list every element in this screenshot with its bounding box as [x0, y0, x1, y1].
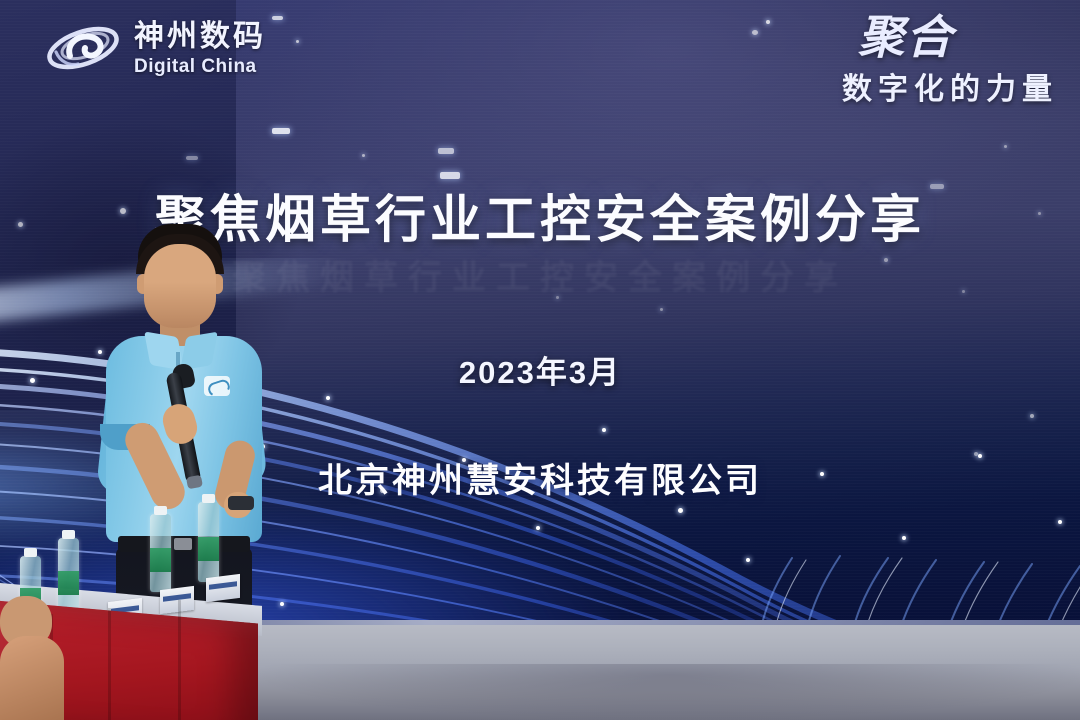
digital-china-logo: 神州数码 Digital China — [44, 18, 266, 80]
bottle-label — [198, 537, 219, 561]
bottle-label — [150, 548, 171, 572]
table-skirt-fold — [108, 608, 111, 720]
stage-floor-shadow — [260, 664, 1080, 720]
event-slogan: 聚合 数字化的力量 — [842, 16, 1058, 108]
table-skirt-fold — [178, 600, 181, 720]
logo-name-en: Digital China — [134, 57, 266, 76]
slogan-calligraphy: 聚合 — [842, 16, 954, 60]
digital-china-swirl-icon — [44, 18, 122, 80]
audience-member-body — [0, 636, 64, 720]
water-bottle — [198, 502, 219, 582]
logo-name-cn: 神州数码 — [134, 22, 266, 52]
name-card — [206, 574, 240, 602]
bottle-label — [58, 571, 79, 595]
bottle-cap — [202, 494, 215, 503]
name-card-text — [209, 581, 237, 589]
name-card-text — [163, 593, 191, 601]
water-bottle — [150, 514, 171, 592]
speaker-chest-logo — [204, 376, 230, 396]
bottle-cap — [24, 548, 37, 557]
bottle-cap — [62, 530, 75, 539]
presentation-clicker-icon — [228, 496, 254, 510]
speaker-face-shading — [144, 282, 216, 328]
slogan-subtitle: 数字化的力量 — [842, 64, 1058, 108]
water-bottle — [58, 538, 79, 614]
conference-photo: 神州数码 Digital China 聚合 数字化的力量 聚焦烟草行业工控安全案… — [0, 0, 1080, 720]
bottle-cap — [154, 506, 167, 515]
name-card — [160, 586, 194, 614]
speaker-belt-buckle — [174, 538, 192, 550]
